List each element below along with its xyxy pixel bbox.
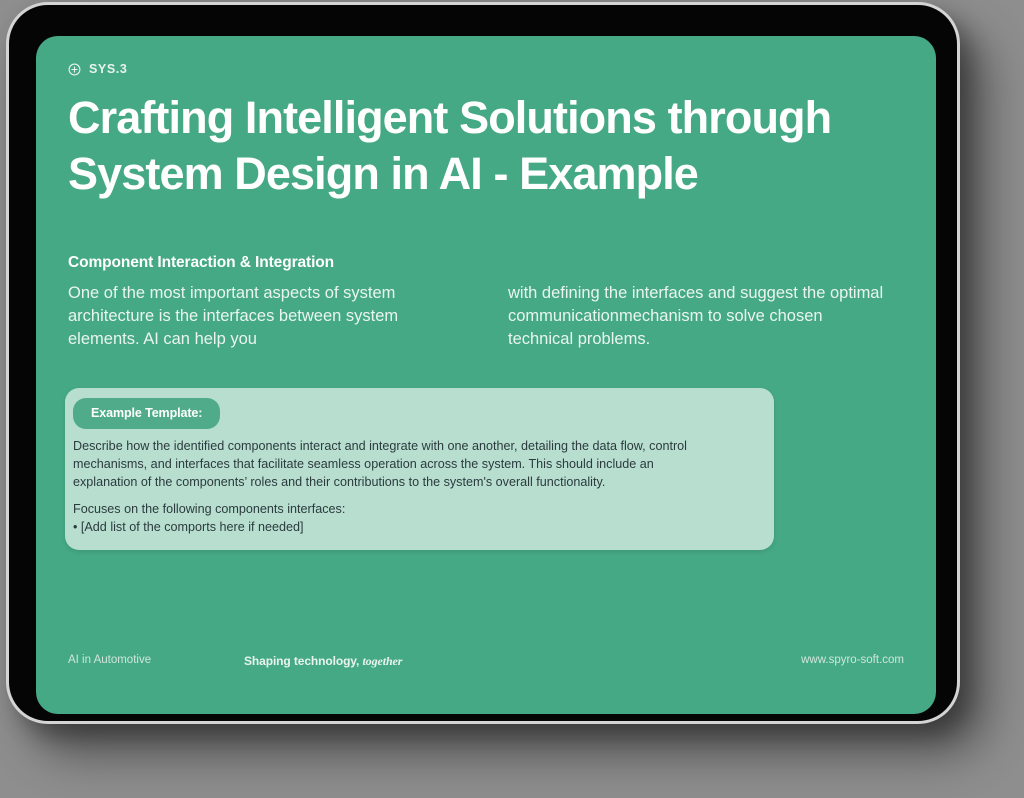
status-badge: Example Template: [73, 398, 220, 429]
footer-website-url: www.spyro-soft.com [801, 654, 904, 666]
template-bullet-item: • [Add list of the comports here if need… [73, 519, 713, 537]
footer-tagline-regular: Shaping technology, [244, 654, 359, 668]
slide-eyebrow: SYS.3 [68, 62, 127, 76]
template-card-body: Describe how the identified components i… [73, 438, 713, 536]
template-focus-line: Focuses on the following components inte… [73, 501, 713, 519]
footer-tagline-italic: together [362, 654, 402, 668]
example-template-card: Example Template: Describe how the ident… [65, 388, 774, 550]
screenshot-stage: SYS.3 Crafting Intelligent Solutions thr… [0, 0, 1024, 798]
body-column-right: with defining the interfaces and suggest… [508, 282, 888, 350]
footer-tagline: Shaping technology, together [244, 654, 402, 669]
eyebrow-label: SYS.3 [89, 62, 127, 76]
target-circle-icon [68, 63, 81, 76]
footer-topic-label: AI in Automotive [68, 654, 151, 666]
section-subheading: Component Interaction & Integration [68, 254, 334, 272]
tablet-device-frame: SYS.3 Crafting Intelligent Solutions thr… [6, 2, 960, 724]
slide-screen: SYS.3 Crafting Intelligent Solutions thr… [36, 36, 936, 714]
slide-footer: AI in Automotive Shaping technology, tog… [36, 646, 936, 686]
body-column-left: One of the most important aspects of sys… [68, 282, 448, 350]
template-paragraph: Describe how the identified components i… [73, 438, 713, 492]
page-title: Crafting Intelligent Solutions through S… [68, 90, 908, 203]
body-columns: One of the most important aspects of sys… [68, 282, 904, 350]
template-spacer [73, 492, 713, 501]
